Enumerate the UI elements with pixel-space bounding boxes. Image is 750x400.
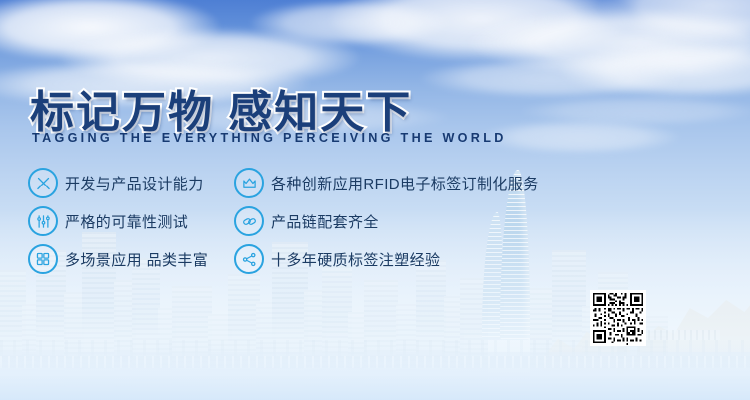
- feature-item-rfid-service: 各种创新应用RFID电子标签订制化服务: [234, 168, 539, 198]
- feature-label: 十多年硬质标签注塑经验: [271, 249, 440, 270]
- sliders-icon: [28, 206, 58, 236]
- feature-label: 严格的可靠性测试: [65, 211, 188, 232]
- feature-label: 各种创新应用RFID电子标签订制化服务: [271, 173, 539, 194]
- feature-list: 开发与产品设计能力 各种创新应用RFID电子标签订制化服务: [0, 168, 750, 282]
- grid-squares-icon: [28, 244, 58, 274]
- chain-link-icon: [234, 206, 264, 236]
- crown-icon: [234, 168, 264, 198]
- feature-item-product-chain: 产品链配套齐全: [234, 206, 379, 236]
- feature-item-molding-experience: 十多年硬质标签注塑经验: [234, 244, 440, 274]
- share-nodes-icon: [234, 244, 264, 274]
- feature-item-reliability-test: 严格的可靠性测试: [28, 206, 188, 236]
- feature-item-development: 开发与产品设计能力: [28, 168, 204, 198]
- qr-code[interactable]: [590, 290, 646, 346]
- water-surface: [0, 376, 750, 400]
- feature-label: 产品链配套齐全: [271, 211, 379, 232]
- cloud-shape: [420, 58, 680, 98]
- feature-row: 多场景应用 品类丰富 十多年硬质标签注塑经验: [0, 244, 750, 282]
- page-subtitle: TAGGING THE EVERYTHING PERCEIVING THE WO…: [32, 130, 507, 145]
- feature-label: 开发与产品设计能力: [65, 173, 204, 194]
- feature-item-multi-scenario: 多场景应用 品类丰富: [28, 244, 208, 274]
- feature-row: 严格的可靠性测试 产品链配套齐全: [0, 206, 750, 244]
- promenade: [0, 352, 750, 378]
- cloud-shape: [250, 0, 450, 46]
- promo-banner: 标记万物 感知天下 TAGGING THE EVERYTHING PERCEIV…: [0, 0, 750, 400]
- crossed-tools-icon: [28, 168, 58, 198]
- feature-row: 开发与产品设计能力 各种创新应用RFID电子标签订制化服务: [0, 168, 750, 206]
- feature-label: 多场景应用 品类丰富: [65, 249, 208, 270]
